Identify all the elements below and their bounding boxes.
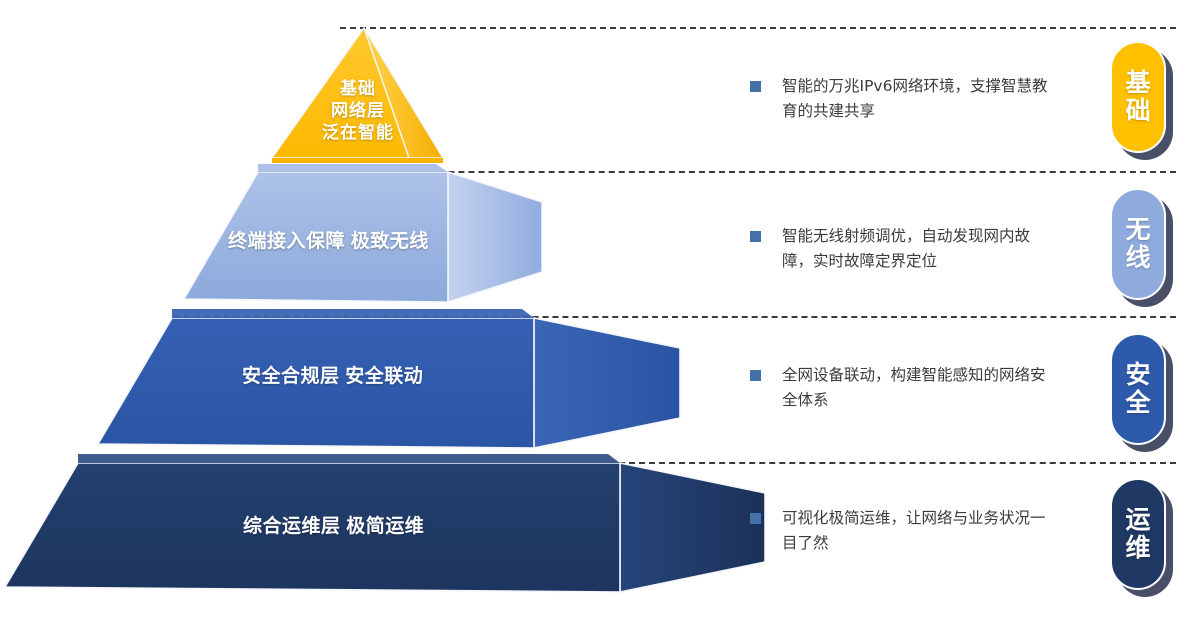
foundation-label-line-3: 泛在智能 xyxy=(298,122,418,144)
layer-label-wireless: 终端接入保障 极致无线 xyxy=(228,226,429,253)
layer-label-operations: 综合运维层 极简运维 xyxy=(243,511,424,538)
badge-wireless-char-1: 无 xyxy=(1125,216,1150,244)
badge-security[interactable]: 安 全 xyxy=(1110,333,1166,445)
description-row-foundation: 智能的万兆IPv6网络环境，支撑智慧教育的共建共享 xyxy=(750,74,1050,124)
description-text-wireless: 智能无线射频调优，自动发现网内故障，实时故障定界定位 xyxy=(782,224,1050,274)
description-row-operations: 可视化极简运维，让网络与业务状况一目了然 xyxy=(750,506,1050,556)
description-row-wireless: 智能无线射频调优，自动发现网内故障，实时故障定界定位 xyxy=(750,224,1050,274)
security-top-rim xyxy=(172,309,534,318)
layer-label-foundation: 基础 网络层 泛在智能 xyxy=(298,78,418,143)
bullet-square-icon xyxy=(750,513,761,524)
badge-foundation-char-2: 础 xyxy=(1125,97,1150,125)
description-text-operations: 可视化极简运维，让网络与业务状况一目了然 xyxy=(782,506,1050,556)
badge-security-char-1: 安 xyxy=(1125,361,1150,389)
diagram-canvas: 基础 网络层 泛在智能 终端接入保障 极致无线 安全合规层 安全联动 综合运维层… xyxy=(0,0,1200,620)
badge-operations-char-1: 运 xyxy=(1125,506,1150,534)
foundation-label-line-1: 基础 xyxy=(298,78,418,100)
description-text-security: 全网设备联动，构建智能感知的网络安全体系 xyxy=(782,363,1050,413)
security-side-face xyxy=(534,318,680,448)
foundation-base-rim xyxy=(272,158,443,163)
badge-wireless[interactable]: 无 线 xyxy=(1110,188,1166,300)
foundation-label-line-2: 网络层 xyxy=(298,100,418,122)
operations-side-face xyxy=(620,463,765,592)
badge-operations-char-2: 维 xyxy=(1125,534,1150,562)
wireless-side-face xyxy=(448,172,542,302)
badge-operations[interactable]: 运 维 xyxy=(1110,478,1166,590)
operations-top-rim xyxy=(78,454,620,463)
badge-wireless-char-2: 线 xyxy=(1125,244,1150,272)
badge-foundation-char-1: 基 xyxy=(1125,69,1150,97)
layer-label-security: 安全合规层 安全联动 xyxy=(242,361,423,388)
bullet-square-icon xyxy=(750,370,761,381)
badge-security-char-2: 全 xyxy=(1125,389,1150,417)
wireless-top-rim xyxy=(258,164,448,172)
bullet-square-icon xyxy=(750,81,761,92)
badge-foundation[interactable]: 基 础 xyxy=(1110,41,1166,153)
description-text-foundation: 智能的万兆IPv6网络环境，支撑智慧教育的共建共享 xyxy=(782,74,1050,124)
description-row-security: 全网设备联动，构建智能感知的网络安全体系 xyxy=(750,363,1050,413)
bullet-square-icon xyxy=(750,231,761,242)
